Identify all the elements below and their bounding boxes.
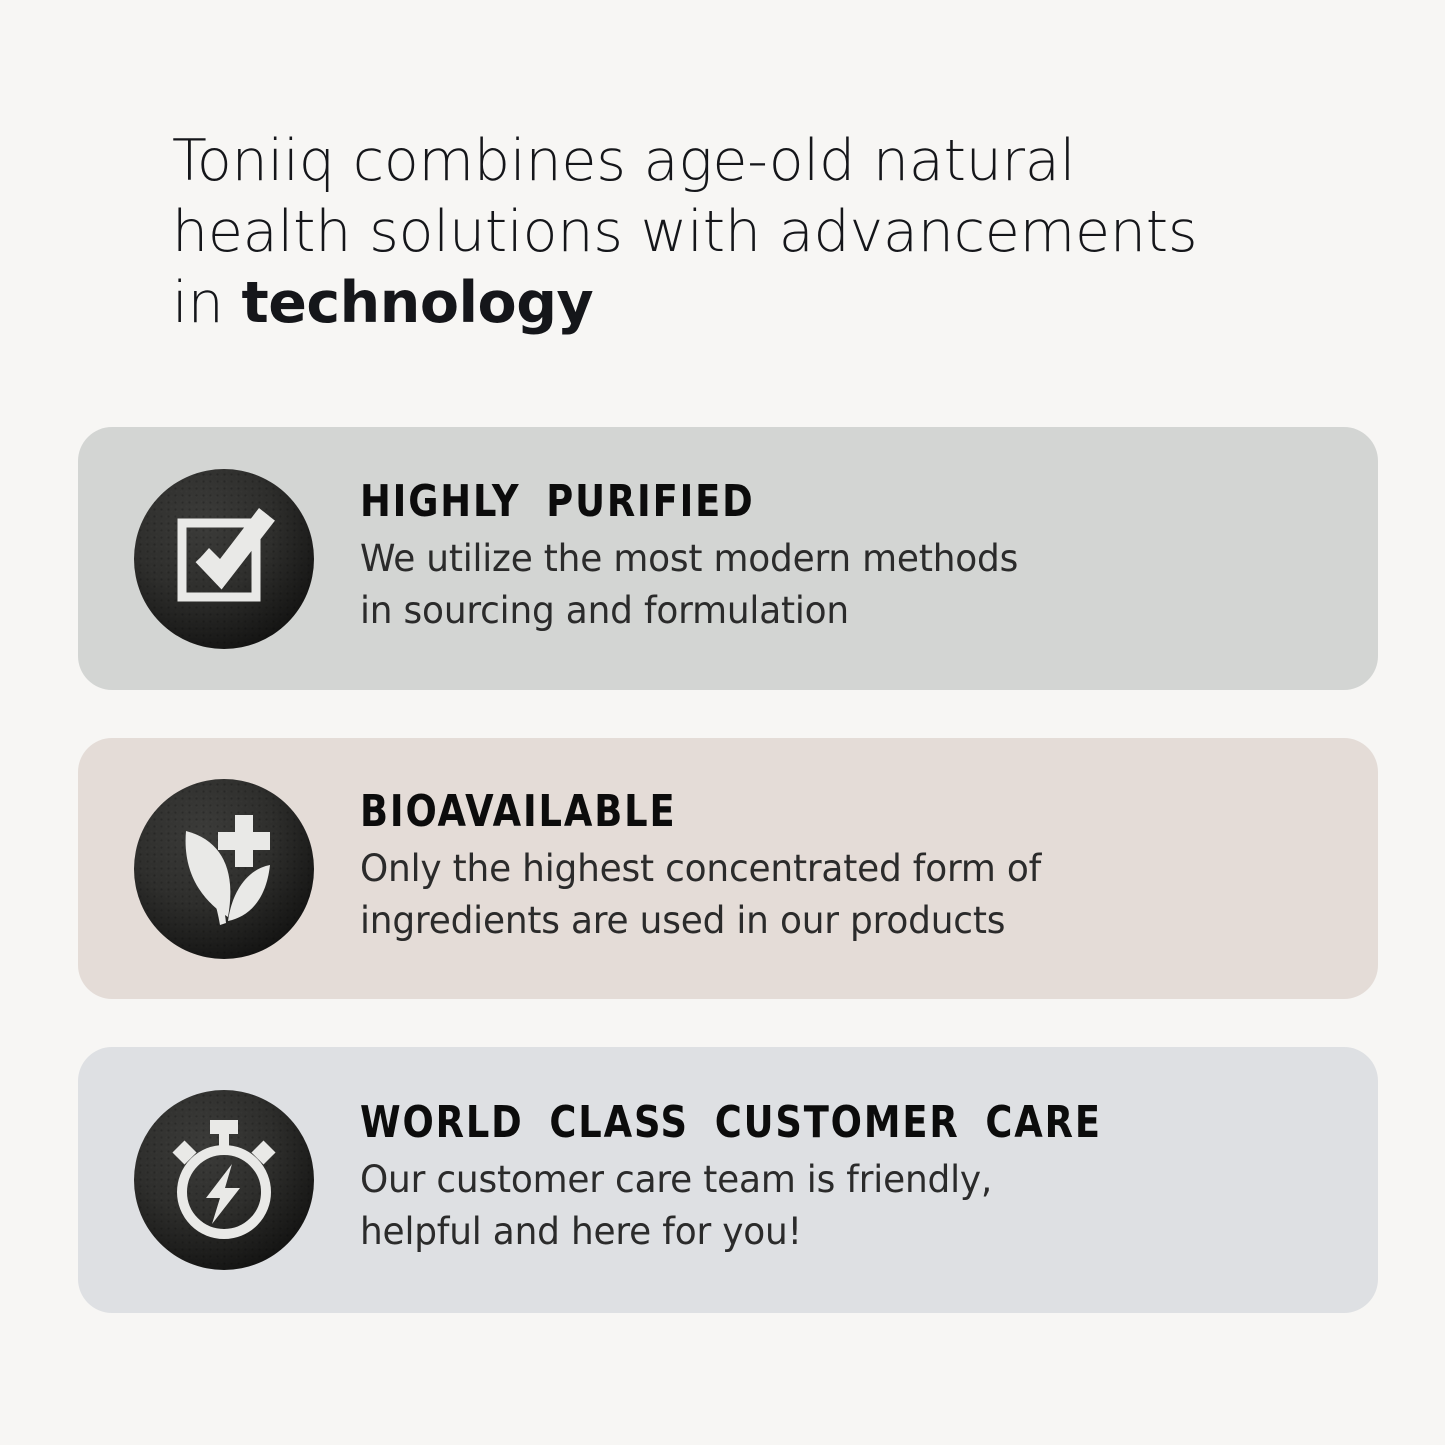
headline-line-3: in technology: [172, 268, 1182, 339]
feature-card-description-line-1: Our customer care team is friendly,: [360, 1154, 1309, 1206]
feature-card-list: HIGHLY PURIFIED We utilize the most mode…: [78, 427, 1378, 1313]
headline-line-1: Toniiq combines age-old natural: [172, 126, 1182, 197]
feature-card-description: Our customer care team is friendly, help…: [360, 1154, 1309, 1258]
headline-line-2: health solutions with advancements: [172, 197, 1182, 268]
promo-panel: Toniiq combines age-old natural health s…: [0, 0, 1445, 1445]
page-title: Toniiq combines age-old natural health s…: [172, 126, 1182, 339]
feature-card-description: We utilize the most modern methods in so…: [360, 533, 1309, 637]
feature-card-text: BIOAVAILABLE Only the highest concentrat…: [360, 787, 1378, 947]
feature-card-title: WORLD CLASS CUSTOMER CARE: [360, 1098, 1270, 1148]
feature-card-description: Only the highest concentrated form of in…: [360, 843, 1309, 947]
feature-card-description-line-2: helpful and here for you!: [360, 1206, 1309, 1258]
feature-card-description-line-2: in sourcing and formulation: [360, 585, 1309, 637]
feature-card-text: WORLD CLASS CUSTOMER CARE Our customer c…: [360, 1098, 1378, 1258]
feature-card-title: BIOAVAILABLE: [360, 787, 1270, 837]
headline-line-3-prefix: in: [172, 270, 241, 336]
headline-emphasis: technology: [241, 270, 593, 336]
feature-card-description-line-1: Only the highest concentrated form of: [360, 843, 1309, 895]
feature-card-description-line-1: We utilize the most modern methods: [360, 533, 1309, 585]
checkbox-check-icon: [134, 469, 314, 649]
feature-card-title: HIGHLY PURIFIED: [360, 477, 1270, 527]
feature-card-bioavailable: BIOAVAILABLE Only the highest concentrat…: [78, 738, 1378, 999]
feature-card-customer-care: WORLD CLASS CUSTOMER CARE Our customer c…: [78, 1047, 1378, 1313]
feature-card-text: HIGHLY PURIFIED We utilize the most mode…: [360, 477, 1378, 637]
stopwatch-bolt-icon: [134, 1090, 314, 1270]
feature-card-highly-purified: HIGHLY PURIFIED We utilize the most mode…: [78, 427, 1378, 690]
feature-card-description-line-2: ingredients are used in our products: [360, 895, 1309, 947]
leaf-plus-icon: [134, 779, 314, 959]
